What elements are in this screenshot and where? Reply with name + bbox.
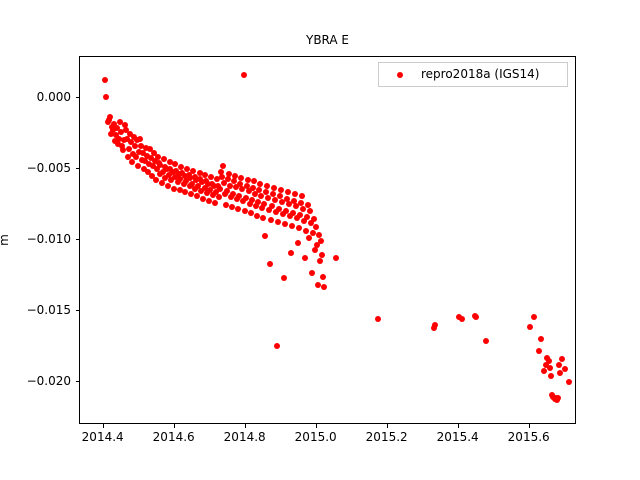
data-point (303, 228, 309, 234)
data-point (299, 193, 305, 199)
data-point (311, 216, 317, 222)
x-tick-mark (174, 424, 175, 428)
data-point (285, 189, 291, 195)
data-point (220, 163, 226, 169)
data-point (274, 343, 280, 349)
data-point (155, 154, 161, 160)
data-point (556, 362, 562, 368)
data-point (304, 214, 310, 220)
data-point (547, 365, 553, 371)
x-tick-label: 2015.4 (423, 430, 493, 444)
x-tick-mark (387, 424, 388, 428)
data-point (555, 395, 561, 401)
data-point (107, 114, 113, 120)
y-tick-mark (76, 239, 80, 240)
matplotlib-figure: YBRA E m 2014.42014.62014.82015.02015.22… (0, 0, 640, 480)
data-point (289, 223, 295, 229)
y-tick-label: −0.010 (9, 232, 71, 246)
x-tick-mark (458, 424, 459, 428)
data-point (282, 221, 288, 227)
data-point (103, 94, 109, 100)
data-point (190, 168, 196, 174)
data-point (288, 250, 294, 256)
legend-marker-icon (397, 72, 403, 78)
plot-axes (79, 56, 576, 424)
data-point (538, 336, 544, 342)
data-point (527, 324, 533, 330)
data-point (302, 255, 308, 261)
x-tick-label: 2014.4 (68, 430, 138, 444)
data-point (268, 217, 274, 223)
data-point (531, 314, 537, 320)
x-tick-mark (245, 424, 246, 428)
data-point (165, 183, 171, 189)
data-point (306, 235, 312, 241)
data-point (171, 186, 177, 192)
page-title: YBRA E (79, 33, 576, 47)
data-point (375, 316, 381, 322)
data-point (271, 185, 277, 191)
data-point (310, 230, 316, 236)
data-point (281, 275, 287, 281)
data-point (267, 261, 273, 267)
data-point (562, 366, 568, 372)
data-point (318, 238, 324, 244)
x-tick-mark (316, 424, 317, 428)
data-point (137, 136, 143, 142)
data-point (296, 225, 302, 231)
x-tick-label: 2015.6 (494, 430, 564, 444)
data-point (317, 258, 323, 264)
data-point (102, 77, 108, 83)
x-tick-mark (529, 424, 530, 428)
y-tick-label: −0.015 (9, 303, 71, 317)
data-point (135, 163, 141, 169)
y-tick-mark (76, 381, 80, 382)
data-point (257, 181, 263, 187)
data-point (319, 252, 325, 258)
data-point (315, 282, 321, 288)
data-point (133, 154, 139, 160)
y-tick-label: −0.020 (9, 374, 71, 388)
data-point (566, 379, 572, 385)
y-tick-label: 0.000 (9, 90, 71, 104)
data-point (298, 200, 304, 206)
y-tick-label: −0.005 (9, 161, 71, 175)
data-point (292, 191, 298, 197)
data-point (313, 224, 319, 230)
data-point (161, 156, 167, 162)
x-tick-label: 2015.2 (352, 430, 422, 444)
data-point (483, 338, 489, 344)
data-point (321, 284, 327, 290)
data-point (278, 187, 284, 193)
data-point (473, 314, 479, 320)
x-tick-label: 2014.8 (210, 430, 280, 444)
legend: repro2018a (IGS14) (378, 62, 568, 87)
data-point (559, 356, 565, 362)
y-tick-mark (76, 97, 80, 98)
data-point (320, 274, 326, 280)
y-tick-mark (76, 168, 80, 169)
data-point (536, 348, 542, 354)
data-point (212, 200, 218, 206)
data-point (241, 72, 247, 78)
data-point (297, 212, 303, 218)
data-point (261, 201, 267, 207)
data-point (275, 219, 281, 225)
data-point (153, 177, 159, 183)
data-point (120, 147, 126, 153)
scatter-series-repro2018a (80, 57, 575, 423)
data-point (307, 208, 313, 214)
data-point (432, 322, 438, 328)
data-point (316, 232, 322, 238)
x-tick-label: 2014.6 (139, 430, 209, 444)
data-point (548, 373, 554, 379)
y-tick-mark (76, 310, 80, 311)
data-point (264, 183, 270, 189)
data-point (238, 175, 244, 181)
data-point (309, 270, 315, 276)
data-point (546, 358, 552, 364)
legend-item-label: repro2018a (IGS14) (421, 67, 539, 81)
data-point (459, 316, 465, 322)
data-point (260, 215, 266, 221)
data-point (129, 159, 135, 165)
data-point (333, 255, 339, 261)
data-point (295, 240, 301, 246)
data-point (235, 206, 241, 212)
x-tick-label: 2015.0 (281, 430, 351, 444)
x-tick-mark (103, 424, 104, 428)
data-point (262, 233, 268, 239)
